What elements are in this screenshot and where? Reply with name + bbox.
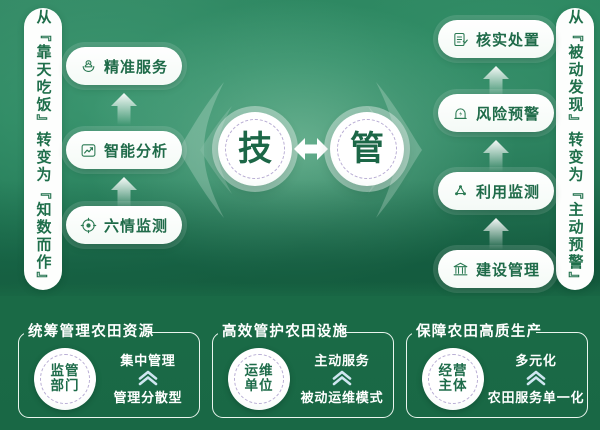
double-chevron-up-icon [331, 370, 353, 386]
card-construction-management[interactable]: 建设管理 [438, 250, 554, 288]
left-banner-text: 从『靠天吃饭』转变为『知数而作』 [36, 9, 51, 289]
panel-actor-text: 监管 部门 [51, 364, 80, 394]
alert-bell-icon [452, 105, 469, 122]
panel-actor-circle: 监管 部门 [34, 348, 96, 410]
panel-from-state: 农田服务单一化 [488, 387, 585, 406]
panel-transition: 多元化 农田服务单一化 [490, 350, 582, 406]
double-arrow-connector [294, 134, 328, 164]
double-arrow-icon [294, 134, 328, 164]
panel-title: 保障农田高质生产 [416, 324, 542, 340]
right-banner-text: 从『被动发现』转变为『主动预警』 [568, 9, 583, 289]
panel-to-state: 集中管理 [120, 350, 175, 369]
technology-glyph: 技 [238, 132, 272, 166]
actor-line-2: 部门 [51, 378, 80, 394]
panel-title: 高效管护农田设施 [222, 324, 348, 340]
card-utilization-monitoring[interactable]: 利用监测 [438, 172, 554, 210]
bottom-panel-quality-production: 保障农田高质生产 经营 主体 多元化 农田服务单一化 [406, 322, 588, 418]
panel-actor-text: 经营 主体 [439, 364, 468, 394]
target-icon [80, 217, 97, 234]
center-circle-management: 管 [330, 112, 404, 186]
card-label: 核实处置 [476, 29, 540, 50]
center-circle-technology: 技 [218, 112, 292, 186]
recycle-icon [452, 183, 469, 200]
bank-building-icon [452, 261, 469, 278]
line-chart-icon [80, 142, 97, 159]
up-arrow-left-1 [111, 93, 137, 125]
card-label: 建设管理 [476, 259, 540, 280]
card-label: 六情监测 [104, 215, 168, 236]
card-label: 利用监测 [476, 181, 540, 202]
card-risk-warning[interactable]: 风险预警 [438, 94, 554, 132]
panel-transition: 主动服务 被动运维模式 [296, 350, 388, 406]
card-label: 智能分析 [104, 140, 168, 161]
card-label: 精准服务 [104, 56, 168, 77]
management-glyph: 管 [350, 132, 384, 166]
panel-from-state: 被动运维模式 [301, 387, 384, 406]
panel-from-state: 管理分散型 [113, 387, 182, 406]
panel-to-state: 多元化 [515, 350, 556, 369]
card-verification-handling[interactable]: 核实处置 [438, 20, 554, 58]
card-intelligent-analysis[interactable]: 智能分析 [66, 131, 182, 169]
panel-to-state: 主动服务 [314, 350, 369, 369]
actor-line-2: 主体 [439, 378, 468, 394]
left-vertical-banner: 从『靠天吃饭』转变为『知数而作』 [24, 8, 62, 290]
panel-actor-circle: 经营 主体 [422, 348, 484, 410]
up-arrow-right-2 [483, 140, 509, 172]
handshake-plant-icon [80, 58, 97, 75]
double-chevron-up-icon [525, 370, 547, 386]
card-label: 风险预警 [476, 103, 540, 124]
double-chevron-up-icon [137, 370, 159, 386]
actor-line-1: 经营 [439, 363, 468, 379]
actor-line-1: 运维 [245, 363, 274, 379]
actor-line-2: 单位 [245, 378, 274, 394]
up-arrow-left-2 [111, 177, 137, 209]
up-arrow-right-3 [483, 218, 509, 250]
card-precision-service[interactable]: 精准服务 [66, 47, 182, 85]
infographic-root: 从『靠天吃饭』转变为『知数而作』 从『被动发现』转变为『主动预警』 精准服务 智… [0, 0, 600, 430]
clipboard-check-icon [452, 31, 469, 48]
bottom-panel-farmland-resources: 统筹管理农田资源 监管 部门 集中管理 管理分散型 [18, 322, 200, 418]
panel-transition: 集中管理 管理分散型 [102, 350, 194, 406]
bottom-panel-farmland-facilities: 高效管护农田设施 运维 单位 主动服务 被动运维模式 [212, 322, 394, 418]
panel-actor-circle: 运维 单位 [228, 348, 290, 410]
panel-actor-text: 运维 单位 [245, 364, 274, 394]
right-vertical-banner: 从『被动发现』转变为『主动预警』 [556, 8, 594, 290]
actor-line-1: 监管 [51, 363, 80, 379]
card-six-condition-monitoring[interactable]: 六情监测 [66, 206, 182, 244]
panel-title: 统筹管理农田资源 [28, 324, 154, 340]
